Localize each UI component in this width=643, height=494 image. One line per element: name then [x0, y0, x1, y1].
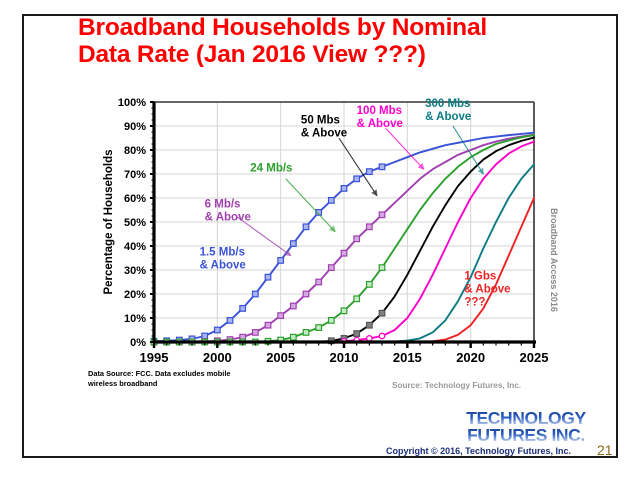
data-point	[316, 279, 322, 285]
annotation-line: 6 Mb/s	[205, 199, 241, 211]
data-source-line-2: wireless broadband	[88, 379, 318, 389]
data-point	[278, 258, 284, 264]
data-point	[329, 318, 335, 324]
data-point	[367, 336, 372, 341]
series-annotation: 300 Mbs& Above	[425, 98, 471, 123]
data-point	[379, 164, 385, 170]
series-annotation: 100 Mbs& Above	[357, 105, 403, 130]
chart-plot-area: 0%10%20%30%40%50%60%70%80%90%100%1995200…	[96, 90, 566, 370]
annotation-line: & Above	[200, 260, 246, 272]
source-credit: Source: Technology Futures, Inc.	[392, 381, 521, 390]
data-point	[379, 310, 385, 316]
data-point	[240, 306, 246, 312]
y-tick-label: 100%	[118, 97, 146, 109]
title-line-2: Data Rate (Jan 2016 View ???)	[78, 41, 578, 68]
y-tick-label: 0%	[130, 337, 146, 349]
data-point	[329, 198, 335, 204]
company-logo: TECHNOLOGY FUTURES INC.	[451, 410, 601, 443]
annotation-line: ???	[464, 297, 485, 309]
x-axis-title: Year	[329, 369, 359, 370]
x-tick-label: 1995	[140, 350, 169, 365]
data-point	[291, 241, 297, 247]
annotation-arrow	[286, 179, 335, 232]
annotation-line: 1 Gbs	[464, 271, 496, 283]
y-tick-label: 20%	[124, 289, 146, 301]
data-point	[202, 333, 208, 339]
series-annotation: 1 Gbs& Above???	[464, 271, 510, 309]
data-point	[367, 322, 373, 328]
data-point	[341, 186, 347, 192]
data-point	[215, 327, 221, 333]
annotation-line: & Above	[464, 284, 510, 296]
page-title: Broadband Households by Nominal Data Rat…	[78, 14, 578, 69]
data-point	[265, 322, 271, 328]
annotation-arrow	[238, 217, 291, 255]
data-point	[329, 265, 335, 271]
annotation-line: & Above	[301, 128, 347, 140]
data-point	[253, 291, 259, 297]
annotation-line: 1.5 Mb/s	[200, 247, 245, 259]
y-tick-label: 90%	[124, 121, 146, 133]
data-point	[354, 331, 360, 337]
series-annotation: 6 Mb/s& Above	[205, 199, 251, 224]
y-tick-label: 40%	[124, 241, 146, 253]
y-tick-label: 80%	[124, 145, 146, 157]
data-point	[354, 176, 360, 182]
data-point	[341, 308, 347, 314]
y-tick-label: 60%	[124, 193, 146, 205]
x-tick-label: 2010	[330, 350, 359, 365]
data-point	[227, 318, 233, 324]
series-annotation: 24 Mb/s	[250, 163, 292, 175]
data-point	[291, 334, 297, 340]
series-annotation: 1.5 Mb/s& Above	[200, 247, 246, 272]
data-source-line-1: Data Source: FCC. Data excludes mobile	[88, 369, 318, 379]
watermark-text: Broadband Access 2016	[549, 208, 559, 312]
data-point	[354, 236, 360, 242]
data-point	[303, 224, 309, 230]
data-point	[253, 330, 259, 336]
annotation-line: & Above	[357, 118, 403, 130]
data-source-note: Data Source: FCC. Data excludes mobile w…	[88, 369, 318, 389]
data-point	[379, 333, 384, 338]
x-tick-label: 2025	[520, 350, 549, 365]
data-point	[379, 265, 385, 271]
x-tick-label: 2020	[456, 350, 485, 365]
data-point	[367, 169, 373, 175]
annotation-line: 100 Mbs	[357, 105, 402, 117]
y-tick-label: 50%	[124, 217, 146, 229]
y-axis-title: Percentage of Households	[103, 149, 115, 294]
annotation-line: 24 Mb/s	[250, 163, 292, 175]
data-point	[265, 274, 271, 280]
y-tick-label: 70%	[124, 169, 146, 181]
annotation-line: 50 Mbs	[301, 115, 340, 127]
copyright-text: Copyright © 2016, Technology Futures, In…	[386, 446, 571, 456]
data-point	[278, 313, 284, 319]
data-point	[316, 325, 322, 331]
data-point	[379, 212, 385, 218]
broadband-line-chart: 0%10%20%30%40%50%60%70%80%90%100%1995200…	[96, 90, 566, 370]
data-point	[291, 303, 297, 309]
y-tick-label: 30%	[124, 265, 146, 277]
annotation-line: 300 Mbs	[425, 98, 470, 110]
x-tick-label: 2015	[393, 350, 422, 365]
data-point	[367, 224, 373, 230]
series-annotation: 50 Mbs& Above	[301, 115, 347, 140]
data-point	[303, 291, 309, 297]
logo-line-2: FUTURES INC.	[451, 427, 601, 444]
page-number: 21	[597, 442, 613, 458]
x-tick-label: 2005	[266, 350, 295, 365]
data-point	[367, 282, 373, 288]
data-point	[341, 250, 347, 256]
data-point	[303, 330, 309, 336]
x-tick-label: 2000	[203, 350, 232, 365]
y-tick-label: 10%	[124, 313, 146, 325]
title-line-1: Broadband Households by Nominal	[78, 14, 578, 41]
annotation-line: & Above	[425, 111, 471, 123]
data-point	[354, 296, 360, 302]
